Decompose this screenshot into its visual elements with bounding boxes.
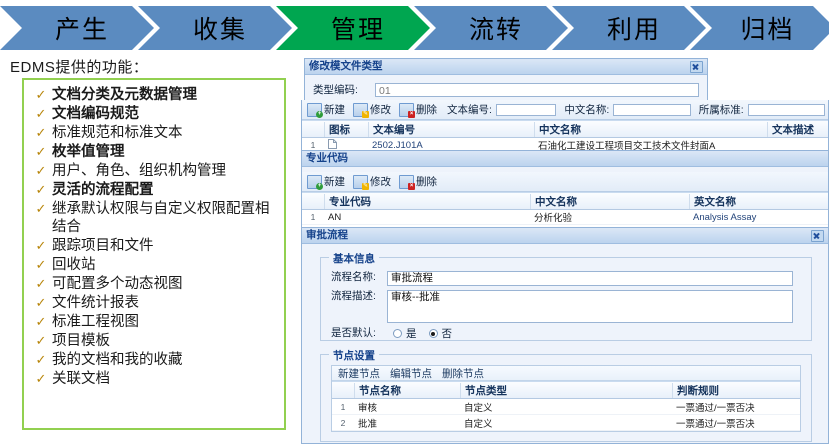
- delete-icon: ×: [399, 103, 414, 117]
- document-icon-svg: [328, 139, 337, 149]
- check-icon: ✓: [30, 351, 52, 369]
- new-button-label: 新建: [324, 174, 345, 189]
- cell-node-name: 审核: [354, 400, 460, 414]
- cell-text-code: 2502.J101A: [368, 140, 534, 151]
- list-item: ✓项目模板: [30, 332, 280, 350]
- col-major-code[interactable]: 专业代码: [324, 194, 530, 209]
- cell-node-type: 自定义: [460, 416, 672, 430]
- edit-button-label: 修改: [370, 174, 391, 189]
- feature-label: 跟踪项目和文件: [52, 237, 280, 255]
- process-step-label: 收集: [183, 10, 247, 46]
- cell-major-code: AN: [324, 212, 530, 223]
- check-icon: ✓: [30, 256, 52, 274]
- radio-no-label: 否: [442, 326, 453, 341]
- text-list-toolbar: + 新建 ✎ 修改 × 删除 文本编号: 中文名称: 所属标准:: [302, 100, 828, 120]
- radio-yes-label: 是: [406, 326, 417, 341]
- close-icon[interactable]: [690, 61, 703, 73]
- cell-chinese-name: 分析化验: [530, 210, 689, 224]
- feature-label: 用户、角色、组织机构管理: [52, 162, 280, 180]
- filter-cname-label: 中文名称:: [564, 102, 609, 117]
- edit-icon: ✎: [353, 103, 368, 117]
- list-item: ✓文档编码规范: [30, 105, 280, 123]
- process-step-circulate[interactable]: 流转: [414, 6, 568, 50]
- feature-label: 项目模板: [52, 332, 280, 350]
- cell-node-rule: 一票通过/一票否决: [672, 400, 800, 414]
- col-node-type[interactable]: 节点类型: [460, 383, 672, 398]
- delete-button[interactable]: × 删除: [397, 174, 439, 189]
- feature-label: 枚举值管理: [52, 143, 280, 161]
- col-chinese-name[interactable]: 中文名称: [530, 194, 689, 209]
- window-title: 专业代码: [306, 151, 348, 166]
- radio-yes-dot[interactable]: [393, 329, 402, 338]
- process-chevron-band: 产生 收集 管理 流转 利用 归档: [0, 6, 829, 50]
- is-default-label: 是否默认:: [331, 327, 387, 340]
- list-item: ✓用户、角色、组织机构管理: [30, 162, 280, 180]
- col-node-rule[interactable]: 判断规则: [672, 383, 800, 398]
- check-icon: ✓: [30, 105, 52, 123]
- check-icon: ✓: [30, 124, 52, 142]
- feature-label: 灵活的流程配置: [52, 181, 280, 199]
- feature-label: 关联文档: [52, 370, 280, 388]
- process-step-utilize[interactable]: 利用: [552, 6, 706, 50]
- list-item: ✓标准工程视图: [30, 313, 280, 331]
- new-node-button[interactable]: 新建节点: [338, 366, 380, 381]
- feature-label: 文件统计报表: [52, 294, 280, 312]
- delete-button-label: 删除: [416, 174, 437, 189]
- col-node-name[interactable]: 节点名称: [354, 383, 460, 398]
- filter-standard-input[interactable]: [748, 104, 825, 116]
- list-item: ✓回收站: [30, 256, 280, 274]
- feature-label: 标准工程视图: [52, 313, 280, 331]
- edit-button[interactable]: ✎ 修改: [351, 174, 393, 189]
- list-item: ✓关联文档: [30, 370, 280, 388]
- window-text-list: + 新建 ✎ 修改 × 删除 文本编号: 中文名称: 所属标准: 图标 文本编号…: [301, 100, 829, 153]
- delete-button[interactable]: × 删除: [397, 102, 439, 117]
- flow-name-row: 流程名称: 审批流程: [331, 271, 803, 286]
- delete-icon: ×: [399, 175, 414, 189]
- filter-textcode-input[interactable]: [496, 104, 556, 116]
- feature-label: 回收站: [52, 256, 280, 274]
- row-index: 1: [332, 402, 354, 412]
- window-approval-titlebar: 审批流程: [302, 228, 828, 244]
- radio-no-dot[interactable]: [429, 329, 438, 338]
- text-list-grid-header: 图标 文本编号 中文名称 文本描述: [302, 120, 828, 138]
- basic-info-fieldset: 基本信息 流程名称: 审批流程 流程描述: 审核--批准 是否默认: 是: [320, 257, 812, 341]
- list-item: ✓我的文档和我的收藏: [30, 351, 280, 369]
- cell-node-rule: 一票通过/一票否决: [672, 416, 800, 430]
- list-item: ✓继承默认权限与自定义权限配置相结合: [30, 200, 280, 236]
- table-row[interactable]: 1 AN 分析化验 Analysis Assay: [302, 210, 828, 225]
- radio-yes[interactable]: 是: [393, 326, 417, 341]
- process-step-label: 产生: [45, 10, 109, 46]
- type-code-input[interactable]: 01: [375, 83, 699, 97]
- col-text-code[interactable]: 文本编号: [368, 122, 534, 137]
- list-item: ✓灵活的流程配置: [30, 181, 280, 199]
- col-english-name[interactable]: 英文名称: [689, 194, 828, 209]
- row-index: 1: [302, 140, 324, 150]
- feature-label: 可配置多个动态视图: [52, 275, 280, 293]
- list-item: ✓可配置多个动态视图: [30, 275, 280, 293]
- filter-cname-input[interactable]: [613, 104, 690, 116]
- col-text-desc[interactable]: 文本描述: [767, 122, 828, 137]
- new-icon: +: [307, 175, 322, 189]
- process-step-collect[interactable]: 收集: [138, 6, 292, 50]
- feature-label: 继承默认权限与自定义权限配置相结合: [52, 200, 280, 236]
- feature-label: 文档编码规范: [52, 105, 280, 123]
- is-default-row: 是否默认: 是 否: [331, 326, 631, 341]
- row-index: 1: [302, 212, 324, 222]
- process-step-manage[interactable]: 管理: [276, 6, 430, 50]
- node-grid-header: 节点名称 节点类型 判断规则: [332, 381, 800, 399]
- check-icon: ✓: [30, 332, 52, 350]
- flow-desc-label: 流程描述:: [331, 290, 387, 303]
- window-file-type: 修改模文件类型 类型编码: 01: [304, 58, 708, 103]
- major-code-toolbar: + 新建 ✎ 修改 × 删除: [302, 172, 828, 192]
- check-icon: ✓: [30, 237, 52, 255]
- edit-icon: ✎: [353, 175, 368, 189]
- process-step-produce[interactable]: 产生: [0, 6, 154, 50]
- table-row[interactable]: 2 批准 自定义 一票通过/一票否决: [332, 415, 800, 431]
- list-item: ✓标准规范和标准文本: [30, 124, 280, 142]
- edit-button[interactable]: ✎ 修改: [351, 102, 393, 117]
- features-list: ✓文档分类及元数据管理✓文档编码规范✓标准规范和标准文本✓枚举值管理✓用户、角色…: [24, 80, 284, 388]
- edit-button-label: 修改: [370, 102, 391, 117]
- basic-info-legend: 基本信息: [329, 251, 379, 266]
- flow-desc-row: 流程描述: 审核--批准: [331, 290, 803, 323]
- col-icon[interactable]: 图标: [324, 122, 368, 137]
- delete-node-button[interactable]: 删除节点: [442, 366, 484, 381]
- radio-no[interactable]: 否: [429, 326, 453, 341]
- check-icon: ✓: [30, 181, 52, 199]
- new-button[interactable]: + 新建: [305, 174, 347, 189]
- list-item: ✓枚举值管理: [30, 143, 280, 161]
- row-index: 2: [332, 418, 354, 428]
- check-icon: ✓: [30, 294, 52, 312]
- flow-name-input[interactable]: 审批流程: [387, 271, 793, 286]
- process-step-label: 利用: [597, 10, 661, 46]
- new-button-label: 新建: [324, 102, 345, 117]
- check-icon: ✓: [30, 370, 52, 388]
- list-item: ✓文件统计报表: [30, 294, 280, 312]
- delete-button-label: 删除: [416, 102, 437, 117]
- cell-node-name: 批准: [354, 416, 460, 430]
- window-title: 审批流程: [306, 228, 348, 243]
- edit-node-button[interactable]: 编辑节点: [390, 366, 432, 381]
- features-box: ✓文档分类及元数据管理✓文档编码规范✓标准规范和标准文本✓枚举值管理✓用户、角色…: [22, 78, 286, 430]
- list-item: ✓文档分类及元数据管理: [30, 86, 280, 104]
- feature-label: 标准规范和标准文本: [52, 124, 280, 142]
- window-title: 修改模文件类型: [309, 59, 383, 74]
- feature-label: 我的文档和我的收藏: [52, 351, 280, 369]
- close-icon[interactable]: [811, 230, 824, 242]
- filter-standard-label: 所属标准:: [699, 102, 744, 117]
- check-icon: ✓: [30, 86, 52, 104]
- list-item: ✓跟踪项目和文件: [30, 237, 280, 255]
- check-icon: ✓: [30, 143, 52, 161]
- cell-node-type: 自定义: [460, 400, 672, 414]
- window-file-type-titlebar: 修改模文件类型: [305, 59, 707, 75]
- new-button[interactable]: + 新建: [305, 102, 347, 117]
- process-step-label: 流转: [459, 10, 523, 46]
- new-icon: +: [307, 103, 322, 117]
- feature-label: 文档分类及元数据管理: [52, 86, 280, 104]
- window-approval-process: 审批流程 基本信息 流程名称: 审批流程 流程描述: 审核--批准 是否默认:: [301, 227, 829, 444]
- flow-name-label: 流程名称:: [331, 271, 387, 284]
- filter-textcode-label: 文本编号:: [447, 102, 492, 117]
- major-code-grid-header: 专业代码 中文名称 英文名称: [302, 192, 828, 210]
- check-icon: ✓: [30, 313, 52, 331]
- process-step-label: 归档: [730, 10, 794, 46]
- check-icon: ✓: [30, 162, 52, 180]
- window-major-code: 专业代码 + 新建 ✎ 修改 × 删除 专业代码 中文名称 英文名称 1: [301, 150, 829, 230]
- type-code-label: 类型编码:: [313, 82, 375, 97]
- window-major-code-titlebar: 专业代码: [302, 151, 828, 167]
- process-step-archive[interactable]: 归档: [690, 6, 829, 50]
- table-row[interactable]: 1 审核 自定义 一票通过/一票否决: [332, 399, 800, 415]
- process-step-label: 管理: [321, 10, 385, 46]
- node-actions-bar: 新建节点 编辑节点 删除节点: [332, 366, 800, 381]
- node-settings-legend: 节点设置: [329, 348, 379, 363]
- features-heading: EDMS提供的功能：: [10, 56, 148, 77]
- check-icon: ✓: [30, 200, 52, 218]
- node-settings-fieldset: 节点设置 新建节点 编辑节点 删除节点 节点名称 节点类型 判断规则 1: [320, 354, 812, 442]
- flow-desc-textarea[interactable]: 审核--批准: [387, 290, 793, 323]
- cell-english-name: Analysis Assay: [689, 212, 828, 223]
- check-icon: ✓: [30, 275, 52, 293]
- col-chinese-name[interactable]: 中文名称: [534, 122, 767, 137]
